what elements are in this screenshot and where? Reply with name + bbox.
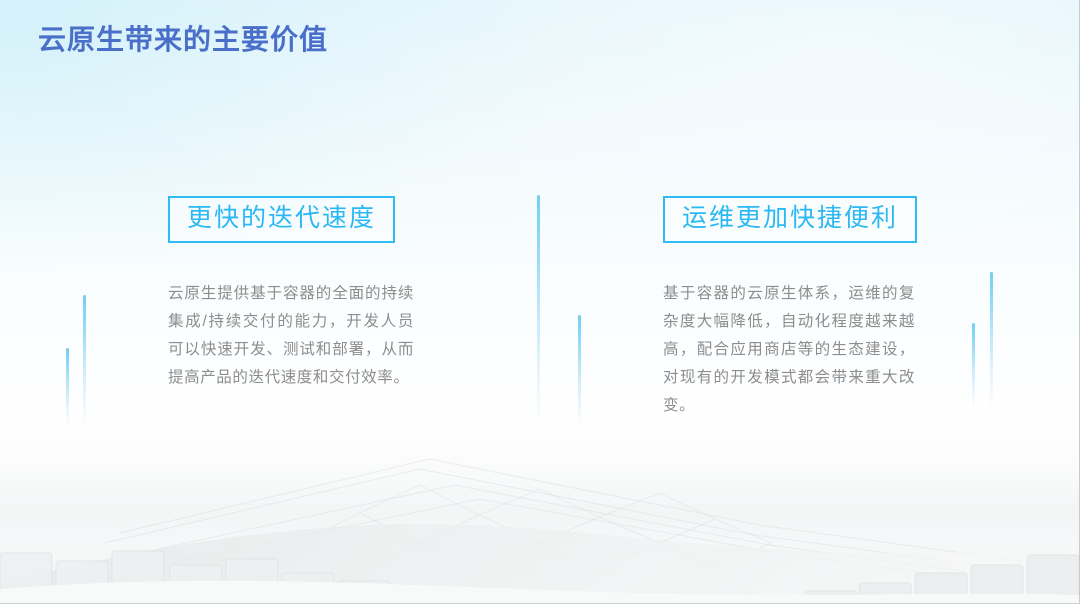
accent-line-right-inner (972, 323, 975, 408)
value-column-left: 更快的迭代速度 云原生提供基于容器的全面的持续集成/持续交付的能力，开发人员可以… (168, 196, 418, 392)
page-title: 云原生带来的主要价值 (38, 22, 328, 58)
accent-line-middle-tall (537, 195, 540, 427)
headline-label-left: 更快的迭代速度 (187, 204, 376, 233)
value-column-right: 运维更加快捷便利 基于容器的云原生体系，运维的复杂度大幅降低，自动化程度越来越高… (663, 196, 913, 420)
body-paragraph-right: 基于容器的云原生体系，运维的复杂度大幅降低，自动化程度越来越高，配合应用商店等的… (663, 280, 915, 420)
accent-line-middle-short (578, 315, 581, 427)
headline-box-left: 更快的迭代速度 (168, 196, 395, 243)
accent-line-right-outer (990, 272, 993, 408)
slide-canvas: 云原生带来的主要价值 更快的迭代速度 云原生提供基于容器的全面的持续集成/持续交… (0, 0, 1080, 604)
headline-label-right: 运维更加快捷便利 (682, 204, 898, 233)
background-scenery (0, 393, 1079, 603)
accent-line-left-inner (83, 295, 86, 426)
accent-line-left-outer (66, 348, 69, 426)
headline-box-right: 运维更加快捷便利 (663, 196, 917, 243)
body-paragraph-left: 云原生提供基于容器的全面的持续集成/持续交付的能力，开发人员可以快速开发、测试和… (168, 280, 414, 392)
